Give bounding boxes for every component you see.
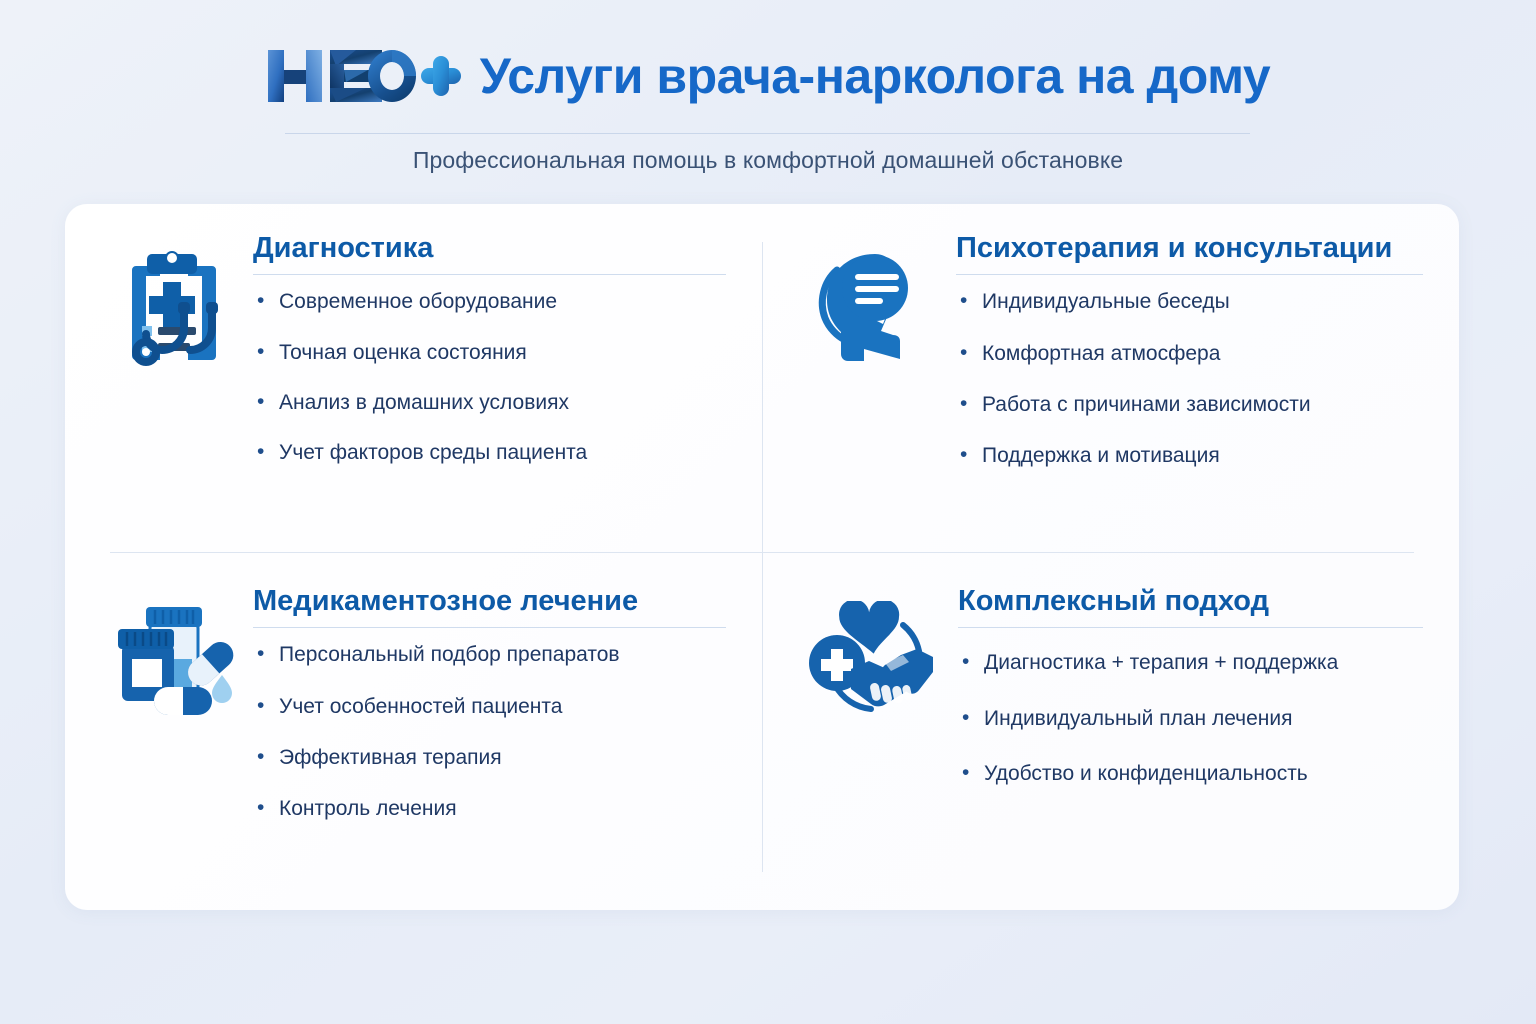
card-bullet-list: Персональный подбор препаратов Учет особ… — [253, 628, 726, 822]
service-card-kompleksnyy-podhod[interactable]: Комплексный подход Диагностика + терапия… — [762, 557, 1459, 910]
page-header: Услуги врача-нарколога на дому Профессио… — [0, 0, 1536, 200]
handshake-heart-cross-icon — [806, 585, 942, 741]
head-speech-bubble-icon — [806, 232, 942, 388]
card-title: Комплексный подход — [958, 585, 1423, 617]
card-body: Медикаментозное лечение Персональный под… — [245, 585, 726, 847]
service-card-medikamentoznoe-lechenie[interactable]: Медикаментозное лечение Персональный под… — [65, 557, 762, 910]
page-title: Услуги врача-нарколога на дому — [480, 51, 1271, 101]
card-title: Психотерапия и консультации — [956, 232, 1423, 264]
services-panel: Диагностика Современное оборудование Точ… — [65, 204, 1459, 910]
card-body: Психотерапия и консультации Индивидуальн… — [942, 232, 1423, 494]
pills-bottles-icon — [109, 585, 245, 741]
list-item: Современное оборудование — [253, 289, 726, 315]
infographic-page: Услуги врача-нарколога на дому Профессио… — [0, 0, 1536, 1024]
card-title: Медикаментозное лечение — [253, 585, 726, 617]
list-item: Индивидуальный план лечения — [958, 706, 1423, 732]
services-grid: Диагностика Современное оборудование Точ… — [65, 204, 1459, 910]
list-item: Учет факторов среды пациента — [253, 440, 726, 466]
service-card-diagnostika[interactable]: Диагностика Современное оборудование Точ… — [65, 204, 762, 557]
list-item: Поддержка и мотивация — [956, 443, 1423, 469]
list-item: Диагностика + терапия + поддержка — [958, 650, 1423, 676]
card-bullet-list: Диагностика + терапия + поддержка Индиви… — [958, 628, 1423, 787]
list-item: Анализ в домашних условиях — [253, 390, 726, 416]
list-item: Индивидуальные беседы — [956, 289, 1423, 315]
header-row: Услуги врача-нарколога на дому — [0, 44, 1536, 108]
list-item: Работа с причинами зависимости — [956, 392, 1423, 418]
list-item: Персональный подбор препаратов — [253, 642, 726, 668]
service-card-psihoterapiya[interactable]: Психотерапия и консультации Индивидуальн… — [762, 204, 1459, 557]
card-bullet-list: Современное оборудование Точная оценка с… — [253, 275, 726, 466]
card-title: Диагностика — [253, 232, 726, 264]
card-body: Комплексный подход Диагностика + терапия… — [942, 585, 1423, 816]
list-item: Удобство и конфиденциальность — [958, 761, 1423, 787]
card-bullet-list: Индивидуальные беседы Комфортная атмосфе… — [956, 275, 1423, 469]
card-body: Диагностика Современное оборудование Точ… — [245, 232, 726, 466]
list-item: Комфортная атмосфера — [956, 341, 1423, 367]
list-item: Точная оценка состояния — [253, 340, 726, 366]
list-item: Эффективная терапия — [253, 745, 726, 771]
header-divider — [285, 133, 1250, 134]
list-item: Учет особенностей пациента — [253, 694, 726, 720]
clipboard-stethoscope-icon — [109, 232, 245, 388]
neo-plus-logo — [266, 44, 462, 108]
page-subtitle: Профессиональная помощь в комфортной дом… — [0, 147, 1536, 174]
list-item: Контроль лечения — [253, 796, 726, 822]
